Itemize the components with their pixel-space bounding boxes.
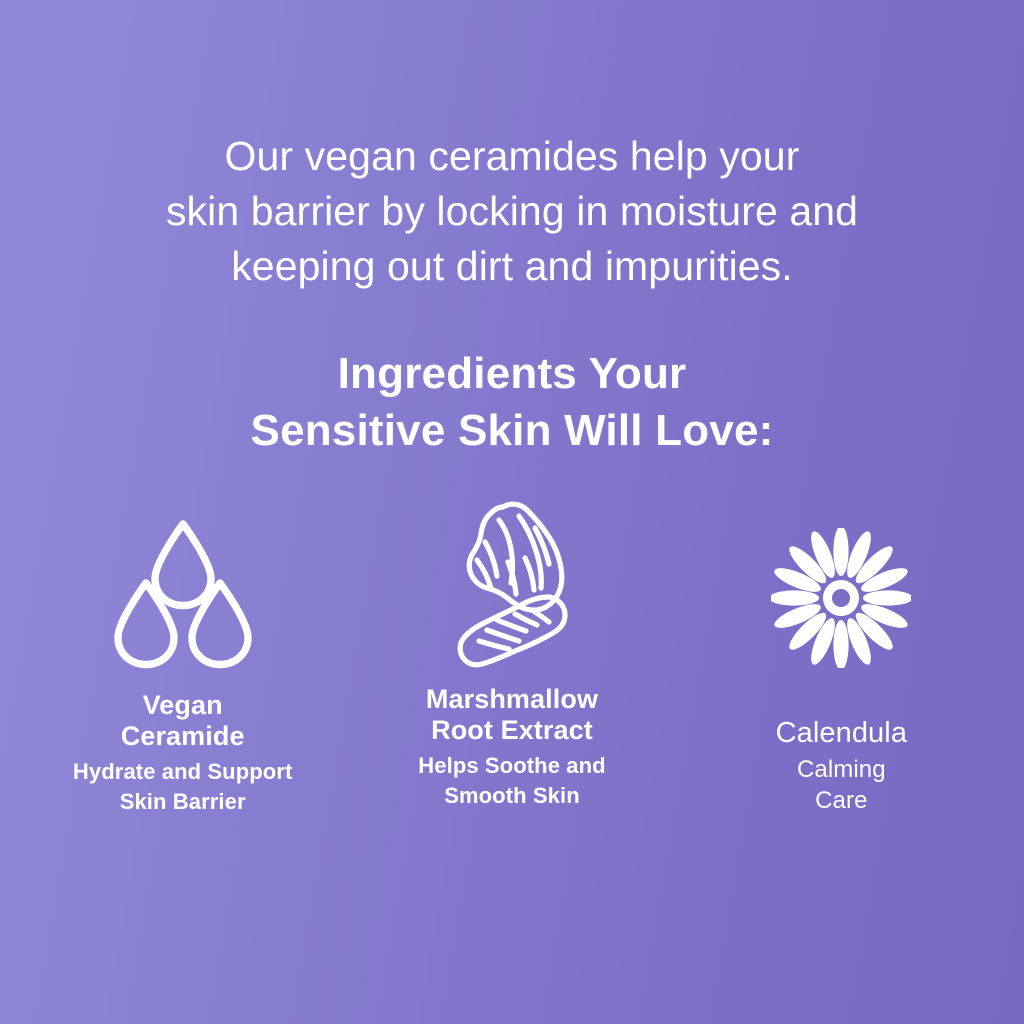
ingredient-description: Calming Care (797, 754, 886, 816)
ingredient-title-line-2: Root Extract (431, 715, 593, 745)
heading-line-1: Ingredients Your (0, 345, 1024, 402)
ingredient-desc-line-1: Hydrate and Support (73, 759, 292, 784)
ingredient-title-line-1: Vegan (143, 690, 223, 720)
ingredient-card-vegan-ceramide: Vegan Ceramide Hydrate and Support Skin … (18, 495, 347, 817)
ingredient-desc-line-1: Helps Soothe and (418, 753, 605, 778)
marshmallow-root-icon (437, 495, 587, 680)
ingredient-desc-line-2: Skin Barrier (120, 789, 246, 814)
calendula-flower-icon (771, 495, 911, 690)
intro-line-2: skin barrier by locking in moisture and (0, 184, 1024, 239)
ingredient-description: Hydrate and Support Skin Barrier (73, 757, 292, 817)
ingredient-title-line-1: Calendula (776, 717, 908, 749)
section-heading: Ingredients Your Sensitive Skin Will Lov… (0, 345, 1024, 459)
intro-line-1: Our vegan ceramides help your (0, 129, 1024, 184)
heading-line-2: Sensitive Skin Will Love: (0, 402, 1024, 459)
ingredient-title: Calendula (776, 718, 908, 749)
ingredient-desc-line-2: Care (815, 787, 867, 814)
ingredient-title-line-2: Ceramide (121, 721, 245, 751)
ingredient-title: Marshmallow Root Extract (426, 684, 598, 746)
ingredient-list: Vegan Ceramide Hydrate and Support Skin … (0, 495, 1024, 817)
ingredient-card-calendula: Calendula Calming Care (677, 495, 1006, 816)
ingredients-infographic: Our vegan ceramides help your skin barri… (0, 0, 1024, 1024)
ingredient-desc-line-1: Calming (797, 756, 886, 783)
ingredient-title: Vegan Ceramide (121, 690, 245, 752)
ingredient-description: Helps Soothe and Smooth Skin (418, 751, 605, 811)
intro-paragraph: Our vegan ceramides help your skin barri… (0, 129, 1024, 294)
water-droplets-icon (108, 495, 258, 686)
intro-line-3: keeping out dirt and impurities. (0, 239, 1024, 294)
ingredient-title-line-1: Marshmallow (426, 684, 598, 714)
ingredient-desc-line-2: Smooth Skin (444, 783, 580, 808)
ingredient-card-marshmallow-root: Marshmallow Root Extract Helps Soothe an… (347, 495, 676, 811)
